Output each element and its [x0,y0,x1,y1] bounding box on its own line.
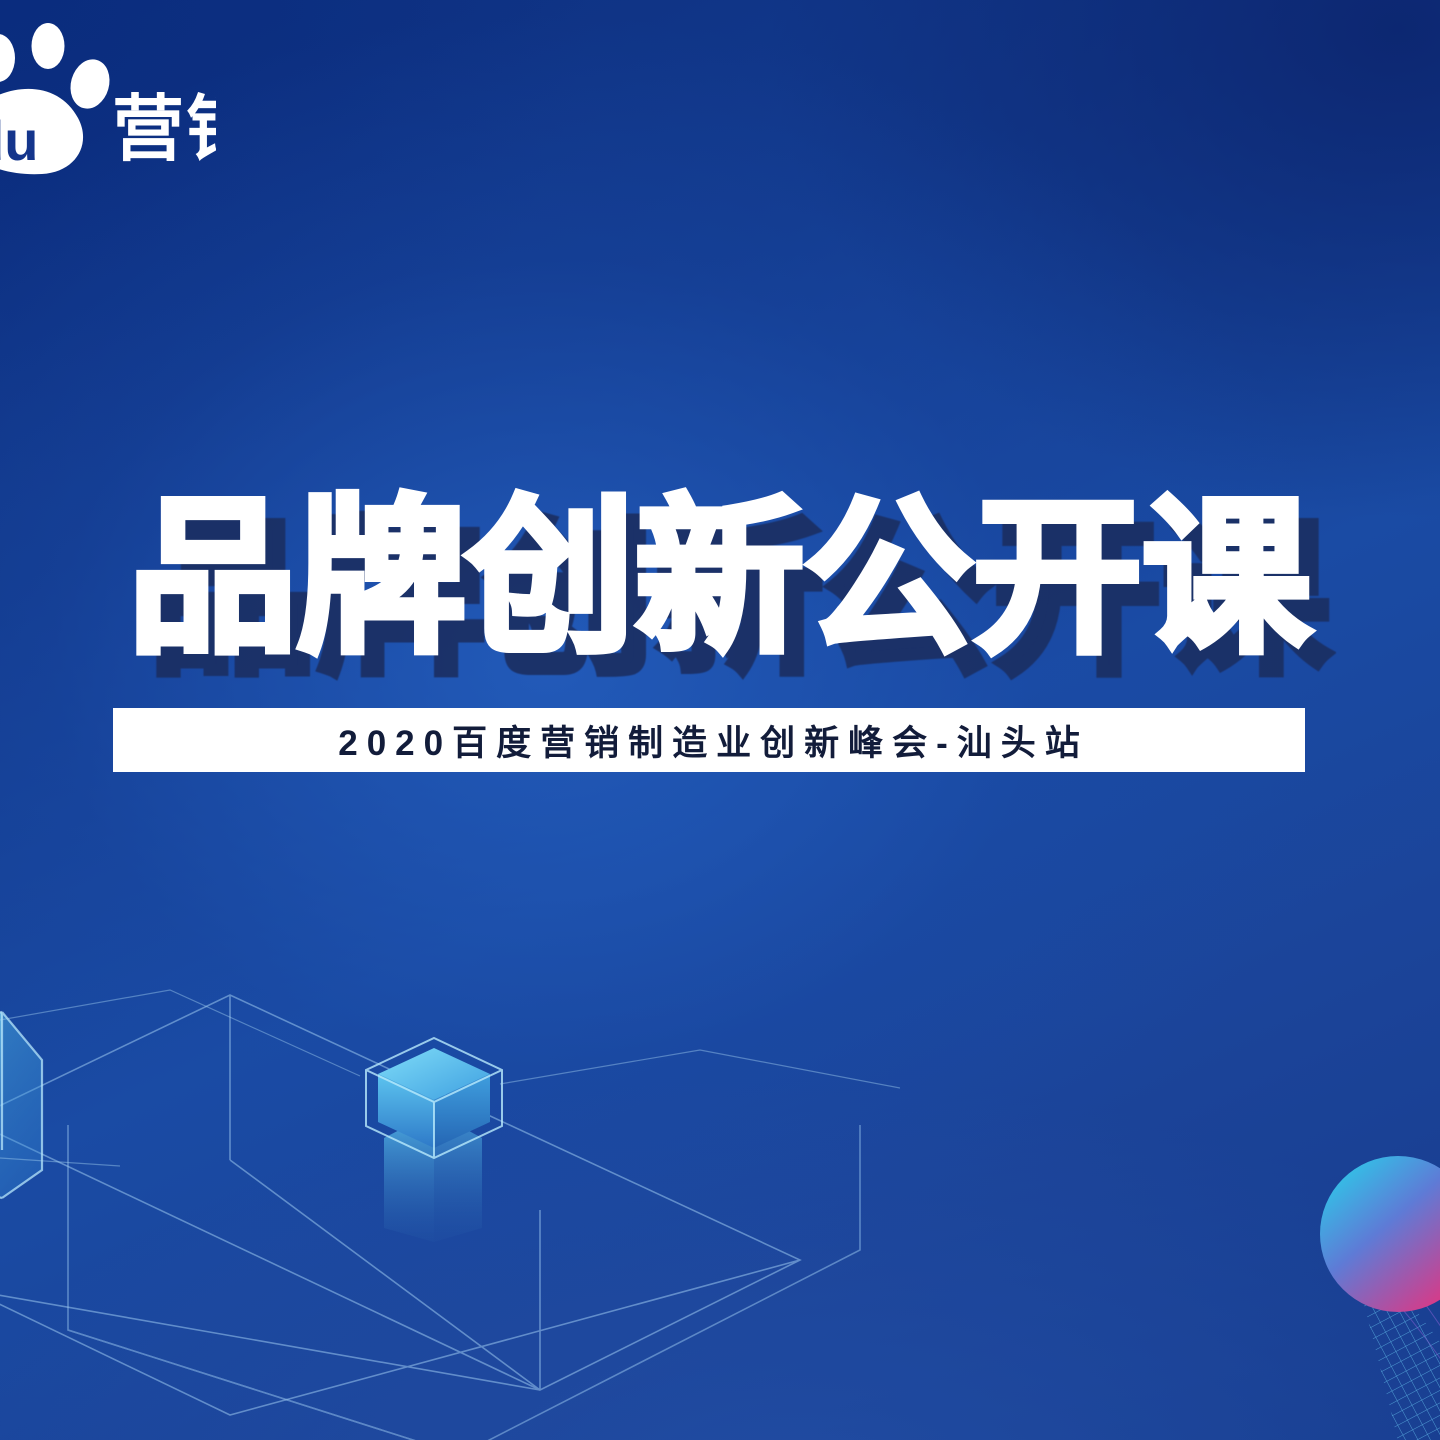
logo-wordmark: 营销 [112,90,216,170]
main-title-text: 品牌创新公开课 [0,492,1440,664]
hexagon-wireframe [0,960,840,1440]
hexagon-wireframe-outer [60,1125,940,1440]
poster-canvas: du 营销 品牌创新公开课 品牌创新公开课 2020百度营销制造业创新峰会-汕头… [0,0,1440,1440]
gradient-sphere [1302,1152,1440,1440]
translucent-cube-left [0,1000,82,1210]
isometric-cube-small [352,1030,562,1260]
subtitle-text: 2020百度营销制造业创新峰会-汕头站 [329,715,1089,766]
baidu-marketing-logo[interactable]: du 营销 [0,22,216,182]
logo-latin-mark: du [0,109,38,172]
main-title: 品牌创新公开课 品牌创新公开课 [0,492,1440,692]
subtitle-bar: 2020百度营销制造业创新峰会-汕头站 [113,708,1305,772]
baidu-paw-icon: du 营销 [0,22,216,182]
connector-lines [0,980,900,1240]
